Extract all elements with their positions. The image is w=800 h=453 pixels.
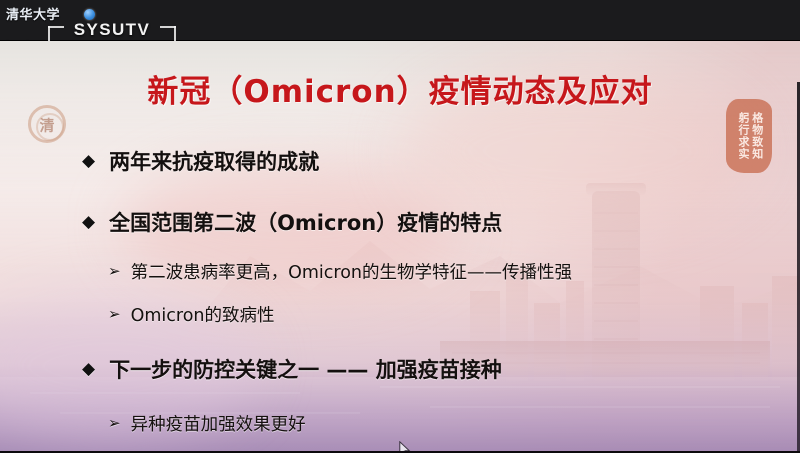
bullet-marker-diamond-icon: ◆ bbox=[82, 361, 95, 378]
presentation-slide: 清 格物致知 躬行求实 新冠（Omicron）疫情动态及应对 ◆ 两年来抗疫取得… bbox=[0, 41, 800, 453]
bullet-text: 第二波患病率更高，Omicron的生物学特征——传播性强 bbox=[131, 259, 572, 284]
bullet-text: 全国范围第二波（Omicron）疫情的特点 bbox=[109, 207, 502, 237]
bullet-marker-arrow-icon: ➢ bbox=[108, 416, 121, 431]
bullet-text: 异种疫苗加强效果更好 bbox=[131, 411, 306, 436]
player-topbar bbox=[0, 0, 800, 41]
bullet-marker-diamond-icon: ◆ bbox=[82, 153, 95, 170]
bullet-item: ◆ 全国范围第二波（Omicron）疫情的特点 bbox=[82, 207, 502, 237]
emblem-mark: 清 bbox=[39, 114, 54, 135]
bullet-item: ➢ Omicron的致病性 bbox=[108, 302, 275, 327]
bullet-item: ➢ 异种疫苗加强效果更好 bbox=[108, 411, 306, 436]
bullet-item: ◆ 两年来抗疫取得的成就 bbox=[82, 146, 319, 176]
slide-title: 新冠（Omicron）疫情动态及应对 bbox=[0, 66, 800, 111]
bullet-text: Omicron的致病性 bbox=[131, 302, 275, 327]
channel-name: 清华大学 bbox=[6, 4, 60, 23]
verified-badge-icon bbox=[84, 9, 95, 20]
bullet-marker-diamond-icon: ◆ bbox=[82, 214, 95, 231]
bullet-text: 下一步的防控关键之一 —— 加强疫苗接种 bbox=[109, 354, 502, 384]
video-player-screen: 清华大学 大看过 疫情防控新 SYSUTV 0:00:19 0:55:01 bbox=[0, 0, 800, 453]
bullet-marker-arrow-icon: ➢ bbox=[108, 307, 121, 322]
bullet-item: ➢ 第二波患病率更高，Omicron的生物学特征——传播性强 bbox=[108, 259, 572, 284]
bullet-marker-arrow-icon: ➢ bbox=[108, 264, 121, 279]
bullet-text: 两年来抗疫取得的成就 bbox=[109, 146, 319, 176]
bullet-item: ◆ 下一步的防控关键之一 —— 加强疫苗接种 bbox=[82, 354, 502, 384]
seal-text: 格物致知 躬行求实 bbox=[735, 106, 763, 166]
